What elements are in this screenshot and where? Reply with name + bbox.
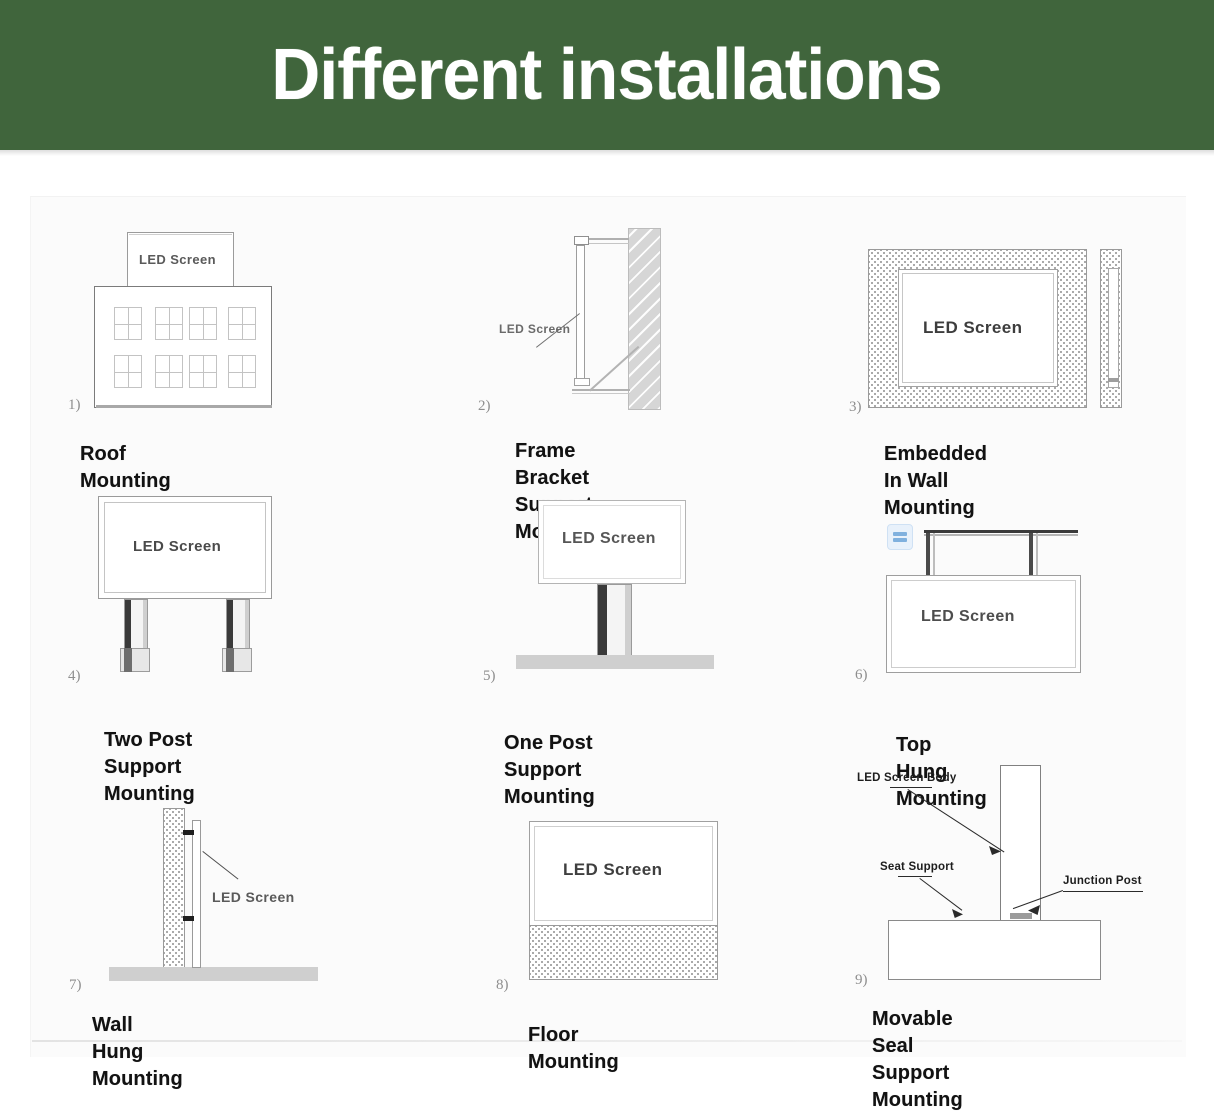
wall-bracket-top (183, 830, 194, 835)
roof-screen-label: LED Screen (139, 252, 216, 267)
building-body (94, 286, 272, 408)
hanger-right-edge (1036, 533, 1038, 575)
ground-slab (516, 655, 714, 669)
bottom-rail (572, 389, 630, 391)
screen-panel (192, 820, 201, 968)
hanger-right (1029, 533, 1033, 575)
bottom-rail-lower (572, 393, 630, 394)
top-beam-lower (924, 534, 1078, 536)
caption-roof-mounting: Roof Mounting (80, 441, 171, 495)
floor-base-stippled (529, 925, 718, 980)
side-view-base (1108, 378, 1119, 382)
figure-number: 6) (855, 667, 868, 684)
screen-label: LED Screen (133, 538, 221, 555)
building-window (228, 355, 256, 388)
junction-detail (1010, 913, 1032, 919)
top-beam (924, 530, 1078, 533)
screen-label: LED Screen (923, 318, 1022, 338)
screen-label: LED Screen (212, 889, 295, 905)
figure-number: 3) (849, 399, 862, 416)
building-window (189, 355, 217, 388)
annotation-led-screen-body: LED Screen Body (857, 772, 957, 784)
figure-number: 1) (68, 397, 81, 414)
support-post (597, 584, 632, 656)
figure-number: 4) (68, 668, 81, 685)
caption-wall-hung-mounting: Wall Hung Mounting (92, 1012, 183, 1093)
title-banner: Different installations (0, 0, 1214, 150)
caption-movable-seal-support-mounting: Movable Seal Support Mounting (872, 1006, 963, 1114)
seat-support-base (888, 920, 1101, 980)
annotation-seat-support: Seat Support (880, 861, 954, 873)
building-window (114, 307, 142, 340)
building-window (114, 355, 142, 388)
annotation-underline-junction (1063, 891, 1143, 892)
wall-hatched (628, 228, 661, 410)
caption-one-post-support-mounting: One Post Support Mounting (504, 730, 595, 811)
building-base-shadow (96, 405, 272, 408)
screen-body-post (1000, 765, 1041, 921)
screen-label: LED Screen (562, 530, 656, 548)
banner-shadow (0, 150, 1214, 156)
top-bracket-arm (589, 238, 629, 240)
bottom-bracket-plate (574, 378, 590, 386)
annotation-underline-seat (898, 876, 932, 877)
building-window (155, 307, 183, 340)
figure-number: 8) (496, 977, 509, 994)
roof-screen-highlight (129, 234, 232, 235)
screen-label: LED Screen (921, 608, 1015, 626)
caption-floor-mounting: Floor Mounting (528, 1022, 619, 1076)
caption-two-post-support-mounting: Two Post Support Mounting (104, 727, 195, 808)
annotation-underline-body (890, 787, 932, 788)
top-bracket-plate (574, 236, 589, 245)
wall-bracket-bottom (183, 916, 194, 921)
side-view-recess (1108, 268, 1119, 388)
annotation-junction-post: Junction Post (1063, 875, 1142, 887)
hanger-left (926, 533, 930, 575)
figure-number: 5) (483, 668, 496, 685)
page-title: Different installations (272, 39, 942, 111)
figure-number: 2) (478, 398, 491, 415)
screen-label: LED Screen (563, 860, 662, 880)
post-foot-right-dark (226, 648, 234, 672)
wall-column-stippled (163, 808, 185, 976)
top-bracket-arm-lower (589, 243, 629, 244)
figure-number: 7) (69, 977, 82, 994)
post-foot-left-dark (124, 648, 132, 672)
screen-label: LED Screen (499, 322, 570, 336)
building-window (228, 307, 256, 340)
ground-slab (109, 967, 318, 981)
building-window (189, 307, 217, 340)
caption-embedded-in-wall-mounting: Embedded In Wall Mounting (884, 441, 987, 522)
building-window (155, 355, 183, 388)
broken-image-icon (887, 524, 913, 550)
figure-number: 9) (855, 972, 868, 989)
hanger-left-edge (933, 533, 935, 575)
